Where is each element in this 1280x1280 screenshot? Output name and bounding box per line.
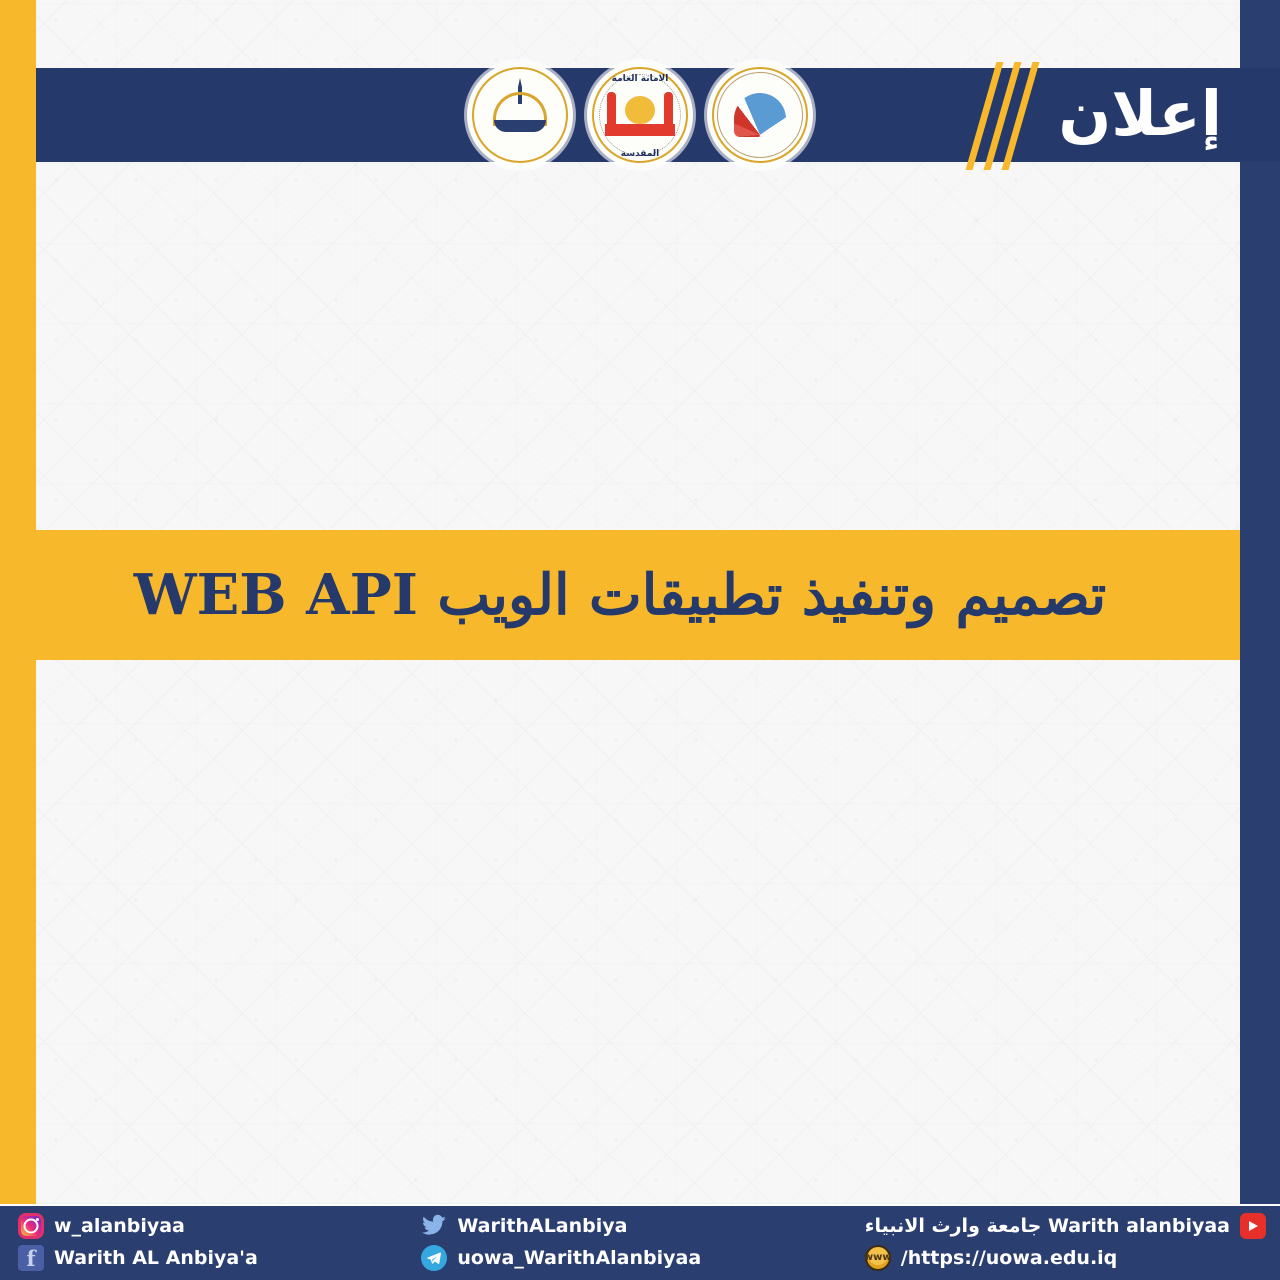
shrine-logo-caption-top: الامانة العامة xyxy=(587,74,693,84)
iraq-ministry-of-higher-education-logo xyxy=(707,62,813,168)
twitter-icon xyxy=(421,1213,447,1239)
instagram-label: w_alanbiyaa xyxy=(54,1217,185,1236)
course-title: تصميم وتنفيذ تطبيقات الويب WEB API xyxy=(134,562,1107,628)
website-link[interactable]: www /https://uowa.edu.iq xyxy=(865,1245,1266,1271)
twitter-label: WarithALanbiya xyxy=(457,1217,627,1236)
diagonal-stripes-decoration xyxy=(950,62,1030,170)
right-accent-rail xyxy=(1240,0,1280,1204)
university-of-warith-al-anbiya-logo xyxy=(467,62,573,168)
facebook-handle[interactable]: f Warith AL Anbiya'a xyxy=(18,1245,258,1271)
footer-column-1: w_alanbiyaa f Warith AL Anbiya'a xyxy=(18,1213,258,1271)
al-abbas-holy-shrine-logo: الامانة العامة المقدسة xyxy=(587,62,693,168)
course-title-band: تصميم وتنفيذ تطبيقات الويب WEB API xyxy=(0,530,1240,660)
telegram-handle[interactable]: uowa_WarithAlanbiyaa xyxy=(421,1245,701,1271)
instagram-handle[interactable]: w_alanbiyaa xyxy=(18,1213,258,1239)
youtube-handle[interactable]: Warith alanbiyaa جامعة وارث الانبياء xyxy=(865,1213,1266,1239)
website-icon: www xyxy=(865,1245,891,1271)
social-footer: w_alanbiyaa f Warith AL Anbiya'a WarithA… xyxy=(0,1204,1280,1280)
announcement-poster: إعلان الامانة العامة المقدسة برعاية السي… xyxy=(0,0,1280,1280)
twitter-handle[interactable]: WarithALanbiya xyxy=(421,1213,701,1239)
facebook-icon: f xyxy=(18,1245,44,1271)
youtube-icon xyxy=(1240,1213,1266,1239)
footer-column-2: WarithALanbiya uowa_WarithAlanbiyaa xyxy=(421,1213,701,1271)
website-label: /https://uowa.edu.iq xyxy=(901,1249,1118,1268)
footer-column-3: Warith alanbiyaa جامعة وارث الانبياء www… xyxy=(865,1213,1266,1271)
telegram-label: uowa_WarithAlanbiyaa xyxy=(457,1249,701,1268)
youtube-label: Warith alanbiyaa جامعة وارث الانبياء xyxy=(865,1217,1230,1236)
page-title: إعلان xyxy=(1058,83,1222,145)
logo-row: الامانة العامة المقدسة xyxy=(467,62,813,168)
facebook-label: Warith AL Anbiya'a xyxy=(54,1249,258,1268)
telegram-icon xyxy=(421,1245,447,1271)
shrine-logo-caption-bottom: المقدسة xyxy=(587,149,693,159)
instagram-icon xyxy=(18,1213,44,1239)
